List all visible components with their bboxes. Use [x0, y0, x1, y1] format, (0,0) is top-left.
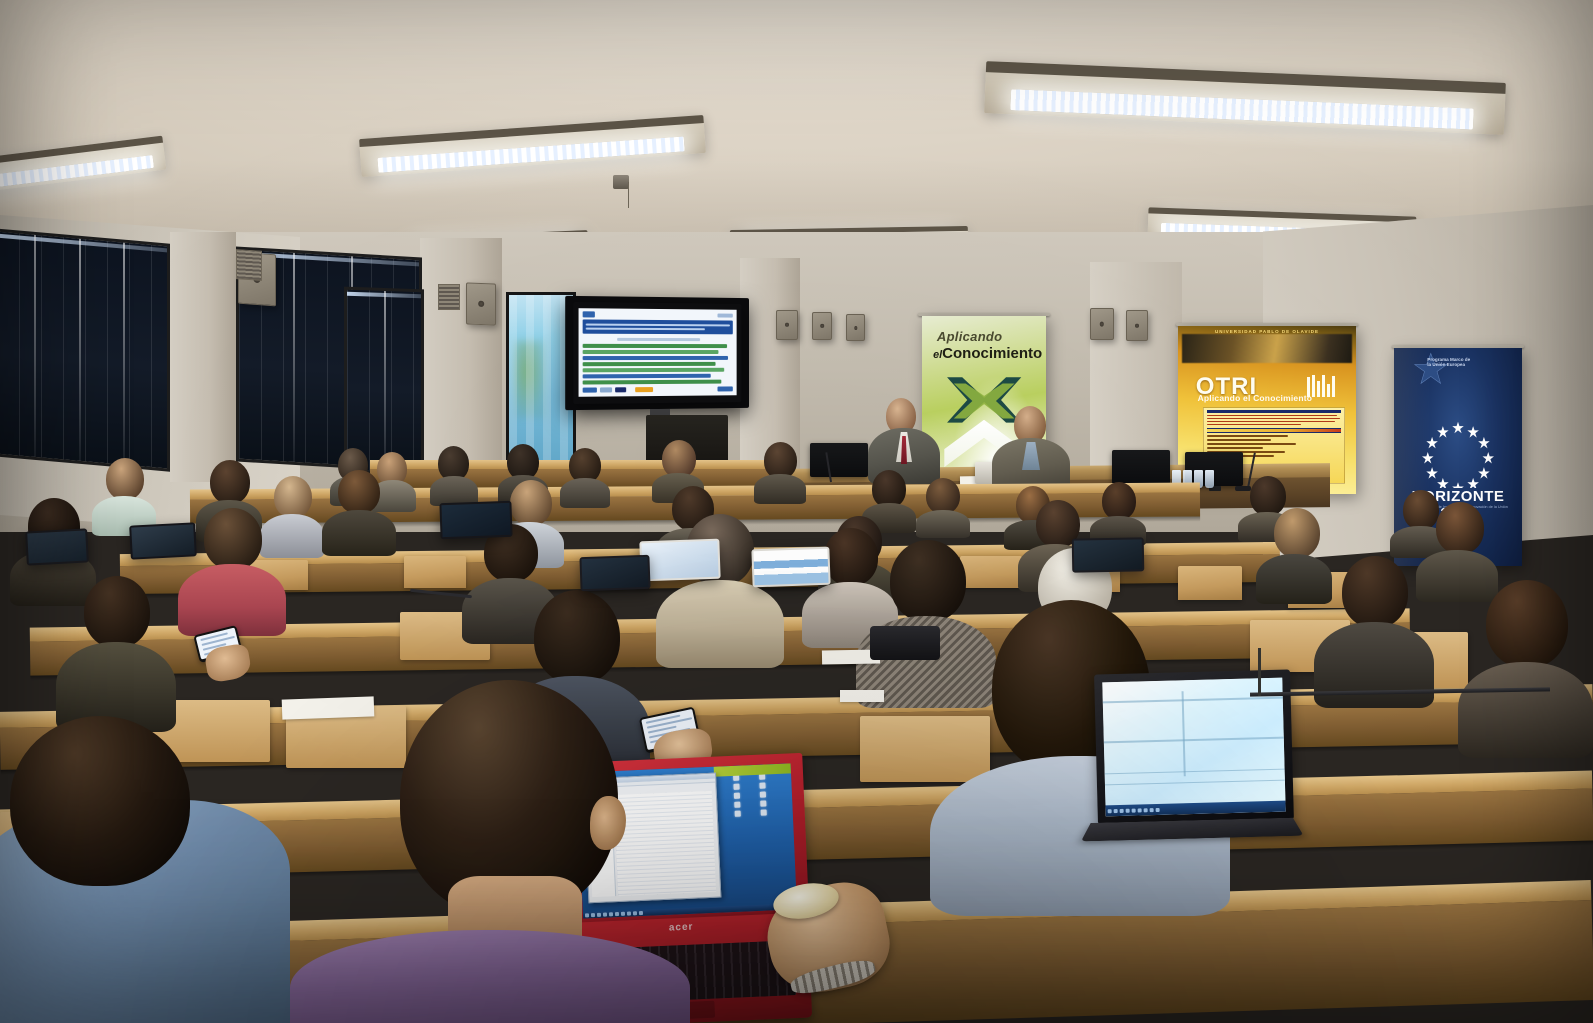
slide-title-bar	[583, 319, 733, 334]
wall-column-center	[420, 238, 502, 478]
wall-column-right	[1090, 262, 1182, 477]
slide-subtitle	[617, 338, 700, 341]
wall-speaker-icon	[846, 314, 865, 341]
tablet-lid	[129, 522, 197, 559]
tablet-left-row[interactable]	[25, 528, 89, 565]
wall-speaker-icon	[466, 282, 496, 325]
wall-speaker-icon	[776, 310, 798, 340]
attendee	[56, 576, 176, 726]
slide-body-rows	[583, 343, 733, 385]
laptop-upper-row[interactable]	[579, 555, 650, 591]
attendee-beige-shirt	[656, 514, 784, 664]
air-vent-icon	[438, 284, 460, 310]
slide-logo-bar	[583, 311, 733, 318]
presenter-left	[868, 398, 940, 480]
attendee-purple-ear	[590, 796, 626, 850]
laptop-screen-black[interactable]	[1102, 678, 1285, 817]
air-vent-icon	[236, 249, 262, 281]
water-glass	[1205, 470, 1214, 488]
presenter-right	[992, 406, 1070, 486]
attendee	[560, 448, 610, 502]
banner-green-line1: Aplicando	[937, 329, 1003, 344]
projector-mount	[613, 175, 629, 189]
slide-footer-logos	[583, 385, 733, 393]
banner-green-line2-main: Conocimiento	[942, 345, 1042, 362]
attendee	[1314, 556, 1434, 704]
laptop-upper-row[interactable]	[639, 539, 720, 582]
wall-column-left	[170, 232, 236, 482]
bag-on-desk	[870, 626, 940, 660]
laptop-lid	[639, 539, 720, 582]
lecture-hall-photo: Aplicando elConocimiento Red OTRI Andalu…	[0, 0, 1593, 1023]
window-left-blinds	[0, 228, 170, 471]
attendee	[0, 716, 210, 896]
seat-back	[404, 556, 466, 588]
banner-orange-paragraph	[1207, 415, 1341, 426]
slide-logo-secondary-icon	[717, 314, 732, 318]
laptop-upper-row[interactable]	[751, 547, 830, 588]
laptop-lid	[579, 555, 650, 591]
slide-logo-icon	[583, 311, 595, 317]
tablet-lid	[25, 528, 89, 565]
attendee-purple-shirt	[290, 680, 690, 1023]
wall-speaker-icon	[812, 312, 832, 340]
printed-handouts[interactable]	[282, 696, 375, 719]
attendee	[430, 446, 478, 500]
printed-handouts[interactable]	[840, 690, 884, 702]
projector-cable	[628, 182, 629, 208]
bright-document-screen	[1102, 678, 1285, 817]
tablet-left-row-2[interactable]	[129, 522, 197, 559]
stage-monitor	[1112, 450, 1170, 484]
banner-green-line2: elConocimiento	[933, 345, 1042, 362]
attendee	[1090, 482, 1146, 540]
banner-orange-subtitle: Aplicando el Conocimiento	[1198, 393, 1313, 403]
laptop-lid	[439, 501, 512, 539]
banner-blue-top-text: Programa Marco dela Unión Europea	[1427, 357, 1470, 368]
desk-rail	[1258, 648, 1261, 696]
laptop-lid	[751, 547, 830, 588]
banner-orange-section-band	[1207, 428, 1341, 433]
banner-green-line2-em: el	[933, 349, 942, 361]
seat-back	[1178, 566, 1242, 600]
presentation-slide	[579, 308, 737, 397]
presentation-screen	[573, 302, 741, 404]
attendee	[754, 442, 806, 500]
attendee	[916, 478, 970, 532]
laptop-upper-row[interactable]	[1072, 537, 1145, 572]
attendee-mint-shirt	[92, 458, 156, 530]
attendee-purple-torso	[290, 930, 690, 1023]
banner-orange-photo	[1182, 334, 1353, 363]
wall-speaker-icon	[1126, 310, 1148, 341]
laptop-lid	[1072, 537, 1145, 572]
eu-stars-circle-icon	[1422, 416, 1494, 488]
attendee	[1458, 580, 1593, 750]
attendee	[322, 470, 396, 552]
wall-speaker-icon	[1090, 308, 1114, 340]
stage-monitor	[810, 443, 868, 477]
laptop-upper-row[interactable]	[439, 501, 512, 539]
wall-column-screenleft	[740, 258, 800, 473]
